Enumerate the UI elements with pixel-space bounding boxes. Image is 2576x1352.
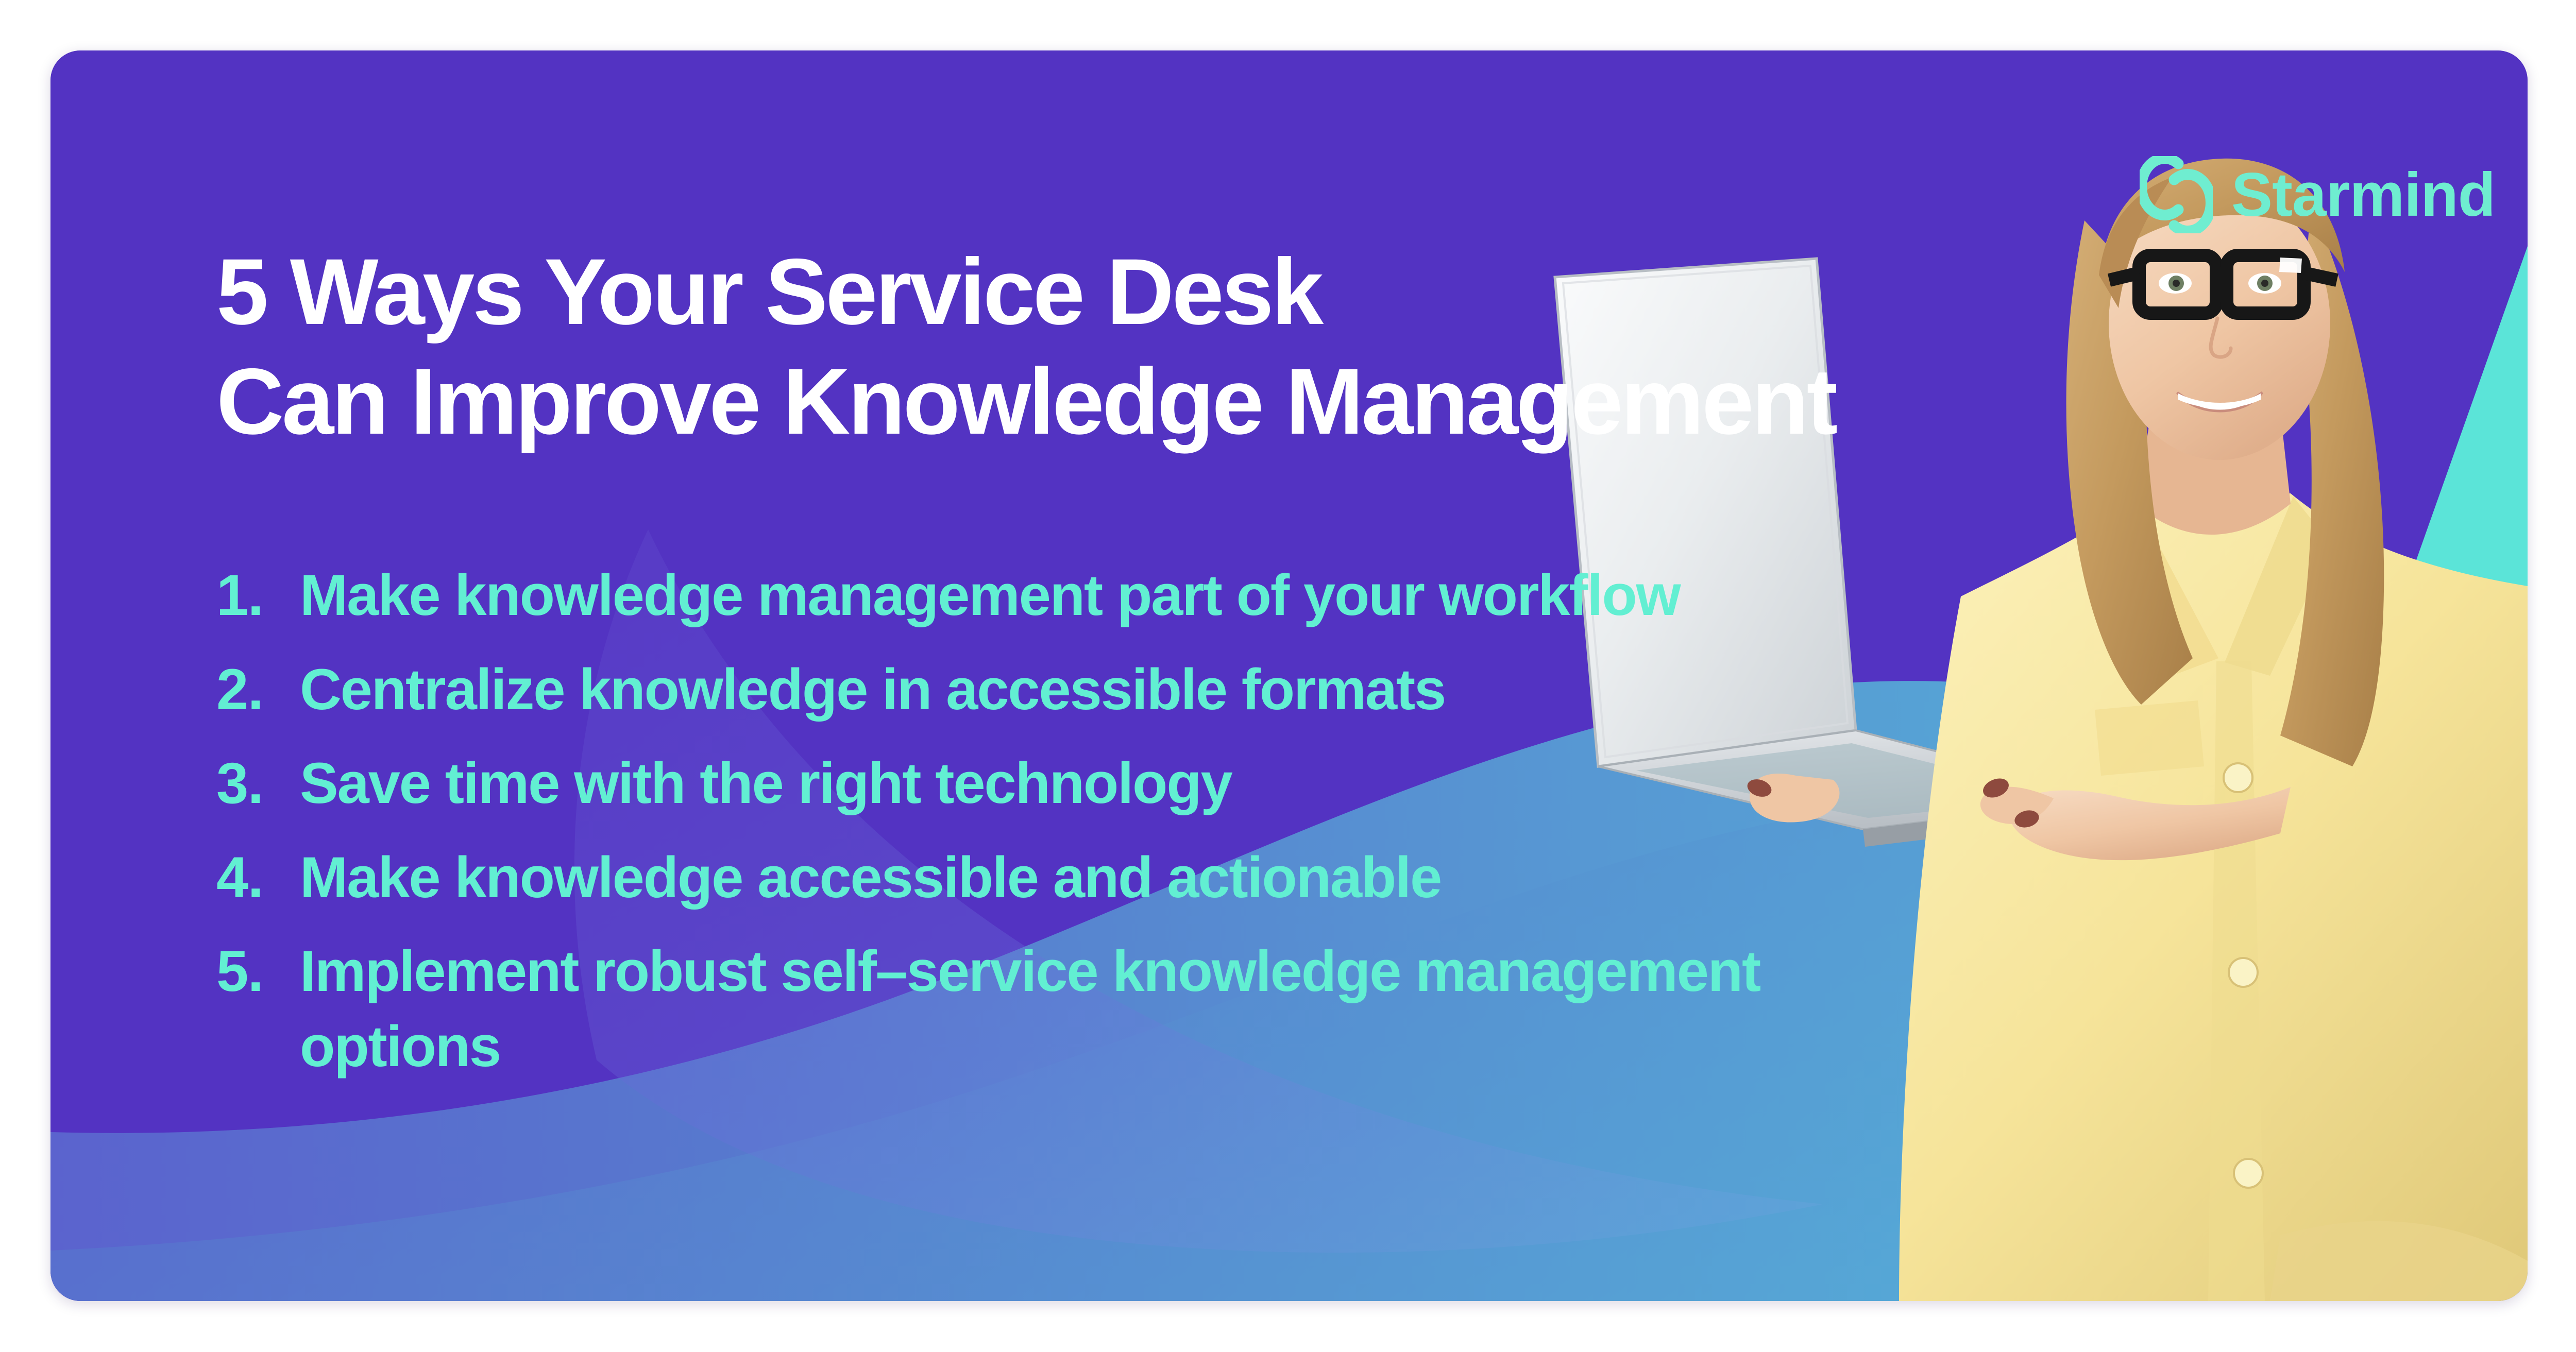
list-item: 2. Centralize knowledge in accessible fo… xyxy=(216,652,1793,727)
brand-name: Starmind xyxy=(2231,164,2495,226)
list-item-label: Save time with the right technology xyxy=(300,746,1232,821)
list-item: 3. Save time with the right technology xyxy=(216,746,1793,821)
list-item: 4. Make knowledge accessible and actiona… xyxy=(216,840,1793,915)
list-item-number: 3. xyxy=(216,746,300,821)
title-line-1: 5 Ways Your Service Desk xyxy=(216,237,2123,347)
starmind-logo[interactable]: Starmind xyxy=(2140,156,2495,233)
list-item-label: Make knowledge accessible and actionable xyxy=(300,840,1441,915)
list-item-number: 4. xyxy=(216,840,300,915)
page-root: Starmind 5 Ways Your Service Desk Can Im… xyxy=(0,0,2576,1352)
title-line-2: Can Improve Knowledge Management xyxy=(216,347,2123,456)
starmind-s-arc-icon xyxy=(2140,156,2213,233)
list-item-number: 1. xyxy=(216,558,300,633)
list-item-label: Implement robust self–service knowledge … xyxy=(300,934,1793,1084)
banner-card: Starmind 5 Ways Your Service Desk Can Im… xyxy=(50,50,2528,1301)
list-item-number: 5. xyxy=(216,934,300,1009)
list-item-number: 2. xyxy=(216,652,300,727)
list-item: 5. Implement robust self–service knowled… xyxy=(216,934,1793,1084)
list-item-label: Centralize knowledge in accessible forma… xyxy=(300,652,1445,727)
ways-list: 1. Make knowledge management part of you… xyxy=(216,558,1793,1103)
list-item-label: Make knowledge management part of your w… xyxy=(300,558,1680,633)
list-item: 1. Make knowledge management part of you… xyxy=(216,558,1793,633)
page-title: 5 Ways Your Service Desk Can Improve Kno… xyxy=(216,237,2123,456)
